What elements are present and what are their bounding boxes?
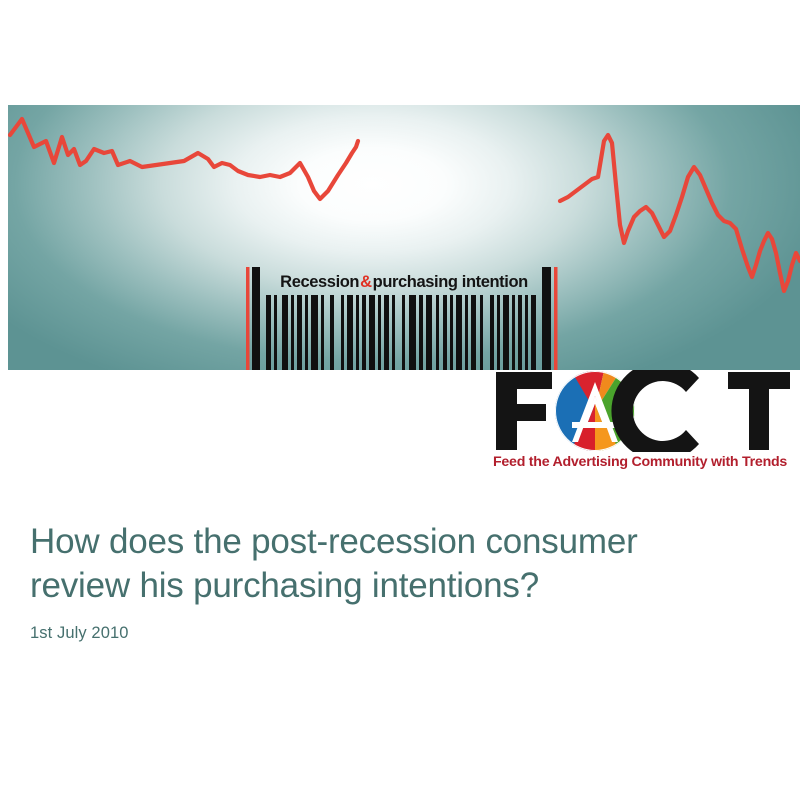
barcode-label: Recession & purchasing intention	[264, 269, 544, 295]
barcode-label-text-after: purchasing intention	[373, 273, 528, 292]
page-date: 1st July 2010	[30, 624, 770, 643]
fact-wordmark	[492, 370, 792, 452]
trend-line-left	[10, 119, 358, 199]
trend-line-right	[560, 135, 800, 291]
barcode-label-text-before: Recession	[280, 273, 359, 292]
fact-wordmark-svg	[492, 370, 792, 452]
page-title-line-2: review his purchasing intentions?	[30, 566, 539, 605]
slide-page: { "slide": { "background_color": "#fffff…	[0, 0, 800, 800]
letter-t-icon	[728, 372, 790, 450]
barcode-graphic: Recession & purchasing intention	[246, 267, 562, 370]
fact-logo: Feed the Advertising Community with Tren…	[492, 370, 792, 480]
page-title-line-1: How does the post-recession consumer	[30, 522, 638, 561]
barcode-label-ampersand: &	[359, 273, 373, 292]
fact-logo-tagline: Feed the Advertising Community with Tren…	[493, 454, 793, 470]
title-block: How does the post-recession consumer rev…	[30, 520, 770, 643]
page-title: How does the post-recession consumer rev…	[30, 520, 770, 608]
letter-f-icon	[496, 372, 552, 450]
hero-banner: Recession & purchasing intention	[8, 105, 800, 370]
